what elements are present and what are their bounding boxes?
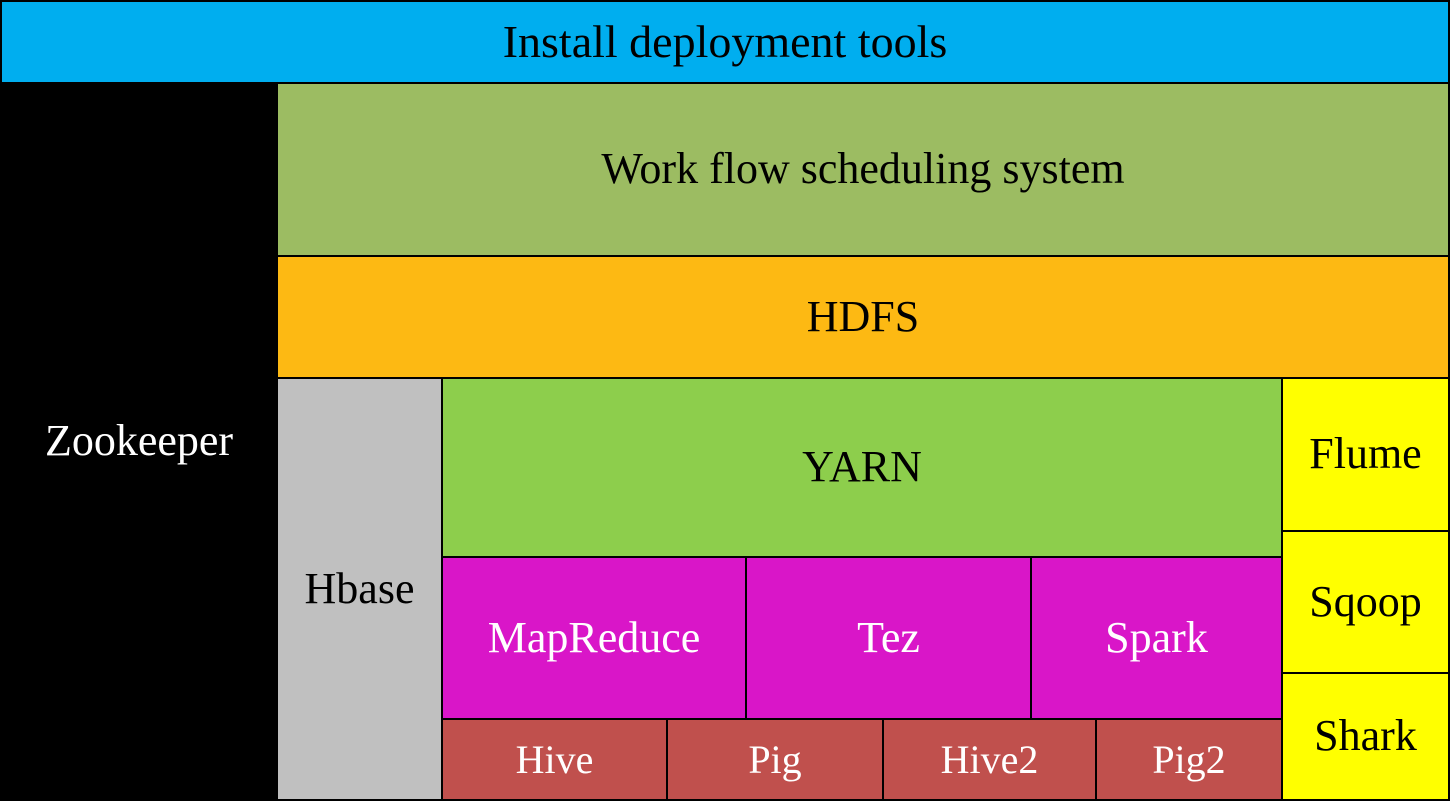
block-label-tez: Tez <box>857 615 920 661</box>
block-hive2: Hive2 <box>882 718 1097 801</box>
block-hdfs: HDFS <box>276 255 1450 379</box>
block-tez: Tez <box>745 556 1032 720</box>
block-yarn: YARN <box>441 377 1283 558</box>
block-zookeeper: Zookeeper <box>0 82 278 801</box>
block-shark: Shark <box>1281 672 1450 801</box>
block-label-mapreduce: MapReduce <box>488 615 701 661</box>
block-label-spark: Spark <box>1105 615 1208 661</box>
block-work-flow-scheduling-system: Work flow scheduling system <box>276 82 1450 257</box>
block-label-sqoop: Sqoop <box>1309 579 1421 625</box>
block-pig2: Pig2 <box>1095 718 1283 801</box>
block-label-yarn: YARN <box>802 444 922 490</box>
block-label-hive: Hive <box>516 739 594 781</box>
block-mapreduce: MapReduce <box>441 556 747 720</box>
block-hive: Hive <box>441 718 668 801</box>
block-install-deployment-tools: Install deployment tools <box>0 0 1450 84</box>
block-label-pig: Pig <box>748 739 801 781</box>
hadoop-ecosystem-diagram: Install deployment tools Zookeeper Work … <box>0 0 1450 801</box>
block-sqoop: Sqoop <box>1281 530 1450 674</box>
block-label-shark: Shark <box>1314 713 1417 759</box>
block-label-install-deployment-tools: Install deployment tools <box>503 18 948 66</box>
block-label-pig2: Pig2 <box>1152 739 1225 781</box>
block-spark: Spark <box>1030 556 1283 720</box>
block-flume: Flume <box>1281 377 1450 532</box>
block-label-hbase: Hbase <box>305 566 415 612</box>
block-label-work-flow-scheduling-system: Work flow scheduling system <box>601 146 1124 192</box>
block-label-flume: Flume <box>1309 431 1421 477</box>
block-label-zookeeper: Zookeeper <box>45 418 233 464</box>
block-pig: Pig <box>666 718 884 801</box>
block-label-hive2: Hive2 <box>941 739 1039 781</box>
block-hbase: Hbase <box>276 377 443 801</box>
block-label-hdfs: HDFS <box>807 294 920 340</box>
